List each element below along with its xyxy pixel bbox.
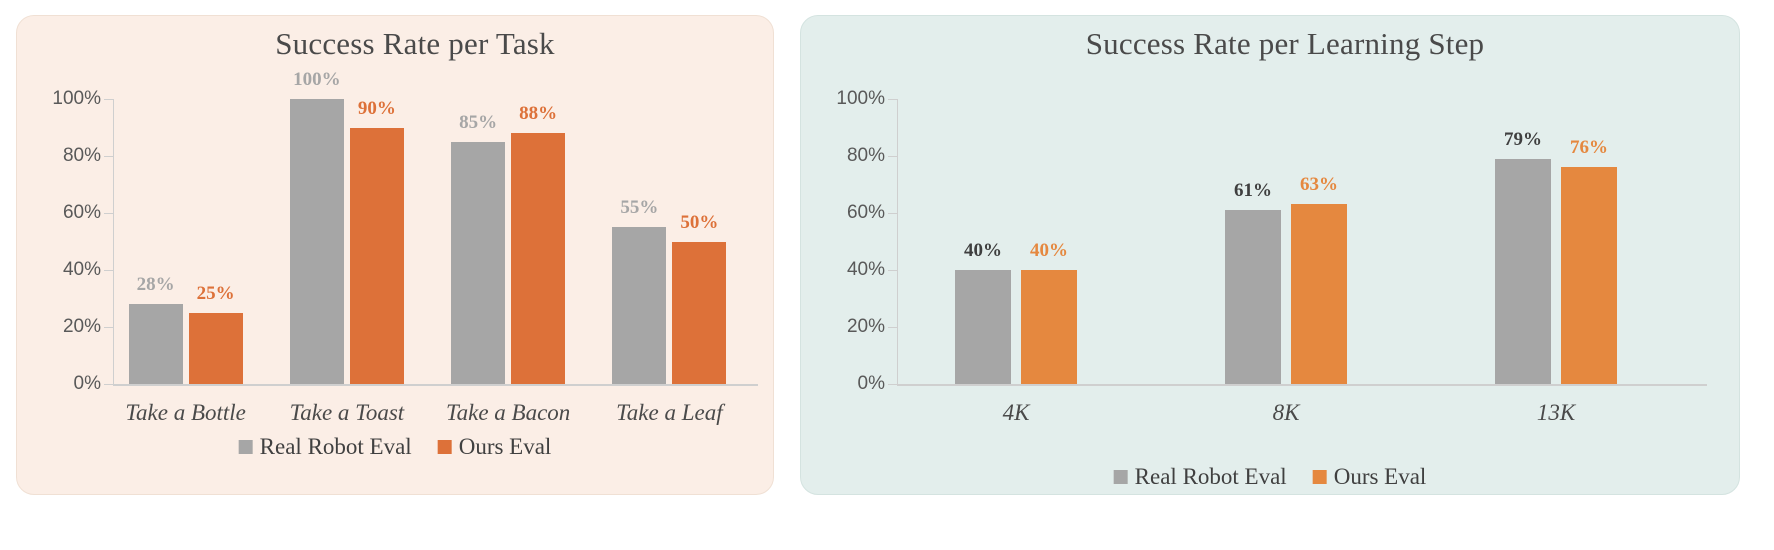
legend-label: Ours Eval [1334,464,1427,490]
bar-real-robot-eval [955,270,1011,384]
bar-value-label: 50% [680,212,718,234]
legend-swatch-icon [1114,470,1128,484]
y-tick-mark [888,213,897,214]
bar-ours-eval [1021,270,1077,384]
bar-real-robot-eval [451,142,505,384]
legend-left: Real Robot EvalOurs Eval [239,434,552,460]
bar-value-label: 40% [964,240,1002,262]
y-tick-mark [104,156,113,157]
y-tick-label: 60% [39,202,101,224]
x-axis-category-label: Take a Bottle [125,400,246,426]
legend-item[interactable]: Real Robot Eval [239,434,412,460]
bar-ours-eval [1561,167,1617,384]
legend-label: Real Robot Eval [1135,464,1287,490]
bar-real-robot-eval [1495,159,1551,384]
x-axis-category-label: Take a Bacon [446,400,570,426]
bar-ours-eval [189,313,243,384]
bar-value-label: 76% [1570,137,1608,159]
y-tick-mark [888,384,897,385]
bar-value-label: 100% [293,69,341,91]
y-tick-mark [888,270,897,271]
y-axis-line [897,99,898,384]
bar-value-label: 63% [1300,174,1338,196]
y-tick-label: 0% [39,373,101,395]
chart-panel-success-rate-per-learning-step: Success Rate per Learning Step 0%20%40%6… [800,15,1740,495]
legend-label: Real Robot Eval [260,434,412,460]
y-tick-mark [104,213,113,214]
bar-real-robot-eval [1225,210,1281,384]
x-axis-category-label: 8K [1273,400,1300,426]
y-axis-line [113,99,114,384]
y-tick-label: 40% [823,259,885,281]
bar-real-robot-eval [612,227,666,384]
y-tick-label: 20% [823,316,885,338]
bar-ours-eval [672,242,726,385]
legend-label: Ours Eval [459,434,552,460]
bar-value-label: 90% [358,98,396,120]
y-tick-mark [888,156,897,157]
bar-value-label: 61% [1234,180,1272,202]
bar-value-label: 55% [620,197,658,219]
y-tick-label: 40% [39,259,101,281]
plot-area-left: 0%20%40%60%80%100%28%25%Take a Bottle100… [17,16,775,496]
bar-ours-eval [350,128,404,385]
bar-value-label: 79% [1504,129,1542,151]
y-tick-label: 20% [39,316,101,338]
legend-swatch-icon [239,440,253,454]
legend-swatch-icon [1313,470,1327,484]
y-tick-mark [104,99,113,100]
y-tick-label: 80% [823,145,885,167]
y-tick-mark [104,384,113,385]
legend-right: Real Robot EvalOurs Eval [1114,464,1427,490]
x-axis-line [897,384,1707,386]
bar-value-label: 88% [519,103,557,125]
bar-real-robot-eval [129,304,183,384]
plot-area-right: 0%20%40%60%80%100%40%40%4K61%63%8K79%76%… [801,16,1741,496]
y-tick-label: 0% [823,373,885,395]
bar-value-label: 40% [1030,240,1068,262]
x-axis-line [113,384,758,386]
bar-value-label: 28% [137,274,175,296]
y-tick-mark [104,327,113,328]
y-tick-mark [888,99,897,100]
bar-real-robot-eval [290,99,344,384]
y-tick-label: 100% [823,88,885,110]
y-tick-label: 60% [823,202,885,224]
y-tick-label: 80% [39,145,101,167]
x-axis-category-label: 13K [1537,400,1575,426]
legend-item[interactable]: Real Robot Eval [1114,464,1287,490]
legend-item[interactable]: Ours Eval [438,434,552,460]
y-tick-mark [888,327,897,328]
x-axis-category-label: Take a Leaf [616,400,723,426]
legend-item[interactable]: Ours Eval [1313,464,1427,490]
x-axis-category-label: 4K [1003,400,1030,426]
x-axis-category-label: Take a Toast [290,400,405,426]
legend-swatch-icon [438,440,452,454]
bar-ours-eval [511,133,565,384]
chart-panel-success-rate-per-task: Success Rate per Task 0%20%40%60%80%100%… [16,15,774,495]
bar-value-label: 25% [197,283,235,305]
y-tick-label: 100% [39,88,101,110]
y-tick-mark [104,270,113,271]
figure-root: Success Rate per Task 0%20%40%60%80%100%… [0,0,1774,550]
bar-ours-eval [1291,204,1347,384]
bar-value-label: 85% [459,112,497,134]
